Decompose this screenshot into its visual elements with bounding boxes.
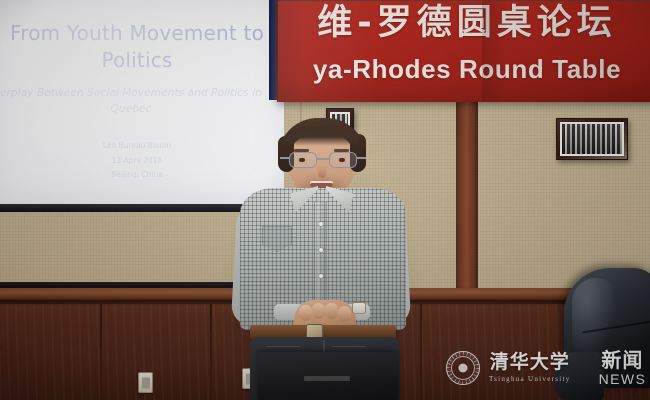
slide-subtitle: erplay Between Social Movements and Poli… [0, 86, 278, 118]
university-name-zh: 清华大学 [490, 353, 570, 372]
speaker-eye-left [299, 158, 305, 162]
table-edge-detail [304, 376, 350, 381]
banner-rod [277, 0, 650, 1]
university-name-en: Tsinghua University [489, 376, 571, 383]
tsinghua-seal-icon [446, 351, 480, 385]
university-name-block: 清华大学 Tsinghua University [489, 353, 571, 383]
glasses-temple-right [357, 157, 366, 159]
banner-left-edge [269, 0, 278, 100]
wall-outlet-left [138, 372, 153, 393]
wainscot-seam [210, 304, 212, 400]
tsinghua-news-watermark: 清华大学 Tsinghua University 新闻 NEWS [446, 344, 644, 392]
shirt-button [319, 248, 323, 252]
news-channel-block: 新闻 NEWS [599, 350, 647, 386]
outlet-face [142, 377, 150, 388]
framed-photo-right [556, 118, 628, 160]
banner-sheen [277, 0, 650, 102]
slide-title: From Youth Movement to Politics [0, 20, 284, 74]
wall-pilaster [456, 100, 478, 292]
knuckle [299, 305, 312, 321]
speaker-wristwatch [352, 302, 366, 314]
shirt-button [319, 222, 323, 226]
foreground-dark-table [258, 352, 398, 400]
speaker-eye-right [339, 158, 345, 162]
photo-mat [560, 122, 624, 156]
wainscot-seam [100, 304, 102, 400]
speaker-fringe [284, 126, 360, 146]
glasses-temple-left [280, 157, 289, 159]
glasses-bridge [317, 158, 329, 160]
banner-cloth: 维-罗德圆桌论坛 ya-Rhodes Round Table [277, 0, 650, 102]
news-label-en: NEWS [599, 372, 647, 386]
shirt-button [319, 274, 323, 278]
photo-image [562, 124, 622, 154]
knuckle [338, 306, 351, 322]
knuckle [325, 303, 338, 319]
conference-photo-scene: From Youth Movement to Politics erplay B… [0, 0, 650, 400]
news-label-zh: 新闻 [601, 350, 643, 370]
knuckle [312, 303, 325, 319]
event-banner: 维-罗德圆桌论坛 ya-Rhodes Round Table [267, 0, 650, 102]
seal-ticks [447, 352, 479, 384]
